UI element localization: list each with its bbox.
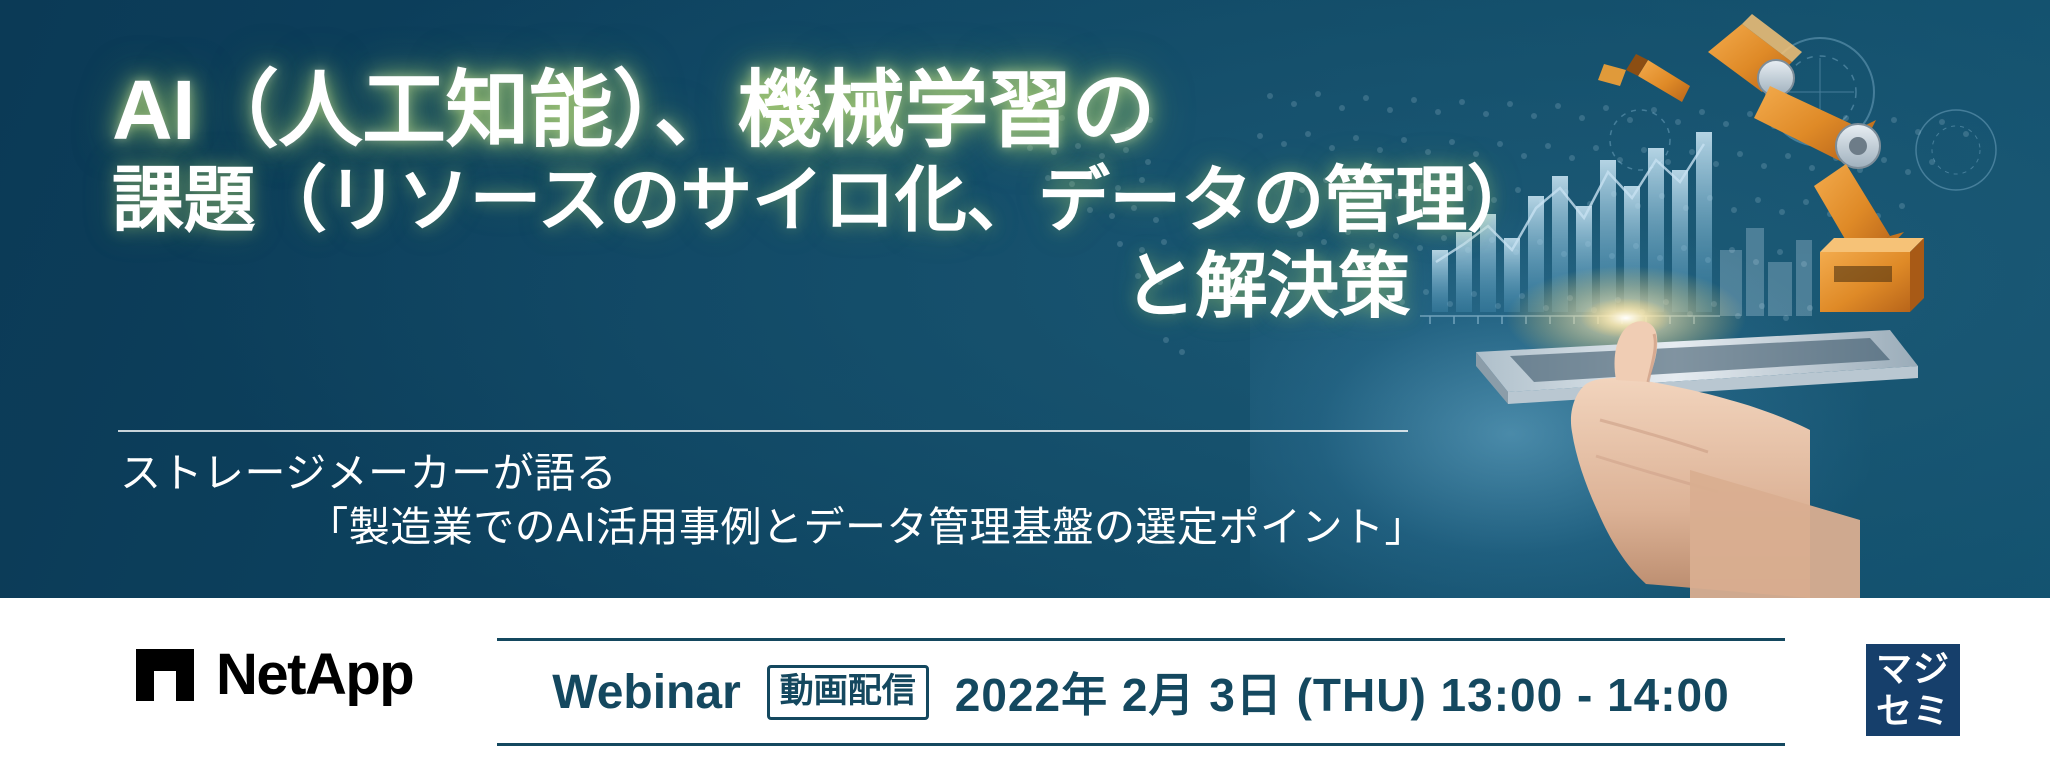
netapp-n-mark-icon (136, 649, 194, 701)
hero-section: AI（人工知能）、機械学習の 課題（リソースのサイロ化、データの管理） と解決策… (0, 0, 2050, 598)
netapp-logo: NetApp (136, 646, 413, 704)
subtitle-line-1: ストレージメーカーが語る (120, 446, 1430, 500)
tablet-device (1476, 330, 1918, 404)
title-line-3: と解決策 (112, 244, 1412, 330)
majisemi-logo-line-1: マジ (1876, 648, 1950, 690)
majisemi-logo[interactable]: マジ セミ (1866, 644, 1960, 736)
hand-icon (1571, 321, 1860, 598)
majisemi-logo-line-2: セミ (1876, 690, 1950, 732)
robot-tablet-artwork (1390, 0, 2050, 598)
title-divider (118, 430, 1408, 432)
delivery-format-badge: 動画配信 (767, 665, 929, 720)
title-block: AI（人工知能）、機械学習の 課題（リソースのサイロ化、データの管理） と解決策 (112, 62, 1412, 330)
webinar-label: Webinar (552, 665, 740, 720)
event-datetime: 2022年 2月 3日 (THU) 13:00 - 14:00 (955, 659, 1730, 725)
city-silhouette (1720, 228, 1812, 316)
glow-core (1580, 298, 1672, 338)
glow-spark (1506, 266, 1746, 370)
title-line-1: AI（人工知能）、機械学習の (112, 62, 1412, 158)
footer-bar: NetApp Webinar 動画配信 2022年 2月 3日 (THU) 13… (0, 598, 2050, 780)
robot-arm-icon (1598, 14, 1924, 312)
webinar-banner: AI（人工知能）、機械学習の 課題（リソースのサイロ化、データの管理） と解決策… (0, 0, 2050, 780)
hud-rings-icon (1610, 38, 1996, 190)
subtitle-line-2: 「製造業でのAI活用事例とデータ管理基盤の選定ポイント」 (120, 500, 1430, 554)
title-line-2: 課題（リソースのサイロ化、データの管理） (112, 158, 1412, 244)
event-info-strip: Webinar 動画配信 2022年 2月 3日 (THU) 13:00 - 1… (497, 638, 1785, 746)
netapp-wordmark: NetApp (216, 646, 413, 704)
subtitle-block: ストレージメーカーが語る 「製造業でのAI活用事例とデータ管理基盤の選定ポイント… (120, 446, 1430, 554)
